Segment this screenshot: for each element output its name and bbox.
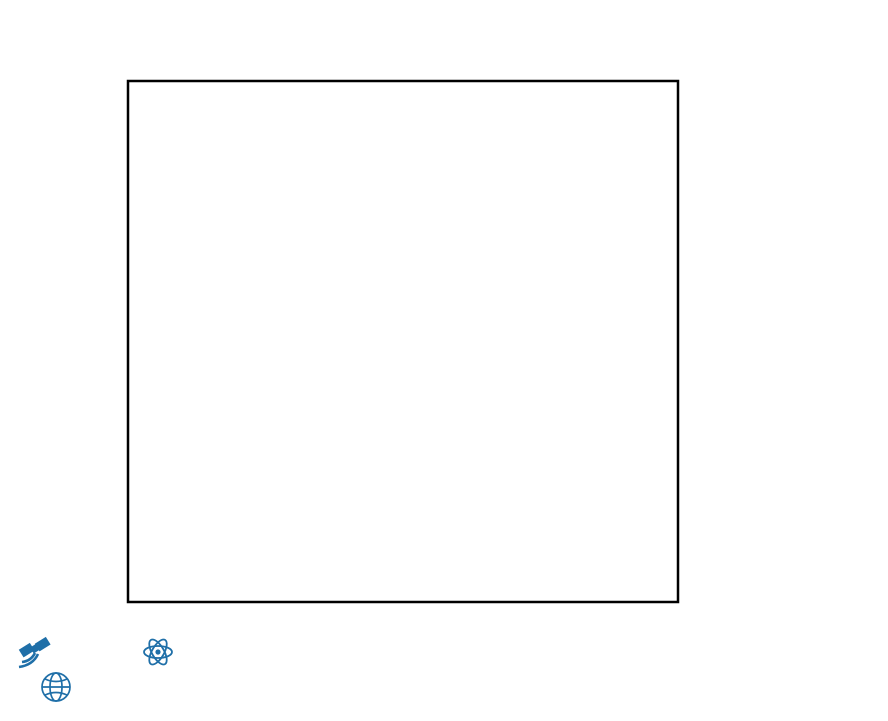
contour-plot [0,0,888,720]
globe-icon [42,673,70,701]
satellite-icon [19,637,51,667]
radconsult-logo [14,632,214,716]
logo-graphics [14,632,214,716]
axis-frame [128,81,678,602]
chart-page [0,0,888,720]
atom-icon [144,637,172,667]
